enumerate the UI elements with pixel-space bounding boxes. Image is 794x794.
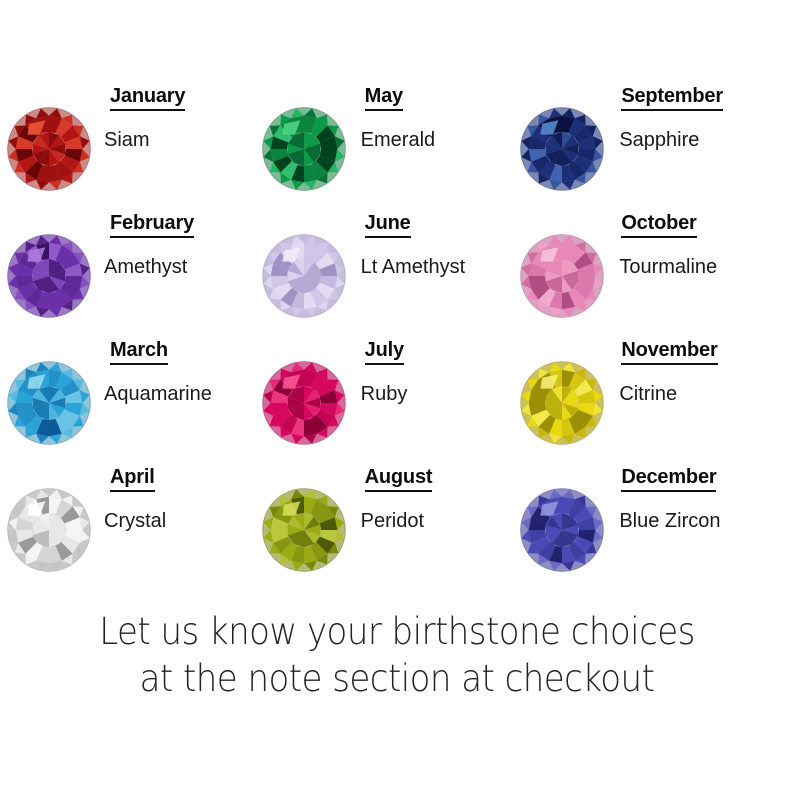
gem-icon: [259, 485, 349, 575]
stone-name: Ruby: [361, 384, 408, 404]
month-label: April: [110, 467, 155, 492]
gem-icon: [4, 231, 94, 321]
stone-name: Sapphire: [619, 130, 699, 150]
gem-icon: [4, 358, 94, 448]
birthstone-cell-november: November Citrine: [529, 326, 794, 453]
gem-icon: [517, 358, 607, 448]
gem-icon: [259, 231, 349, 321]
birthstone-cell-may: May Emerald: [265, 72, 530, 199]
month-label: July: [365, 340, 404, 365]
month-label: June: [365, 213, 411, 238]
stone-name: Blue Zircon: [619, 511, 720, 531]
stone-name: Lt Amethyst: [361, 257, 466, 277]
month-label: December: [621, 467, 716, 492]
stone-name: Crystal: [104, 511, 166, 531]
caption: Let us know your birthstone choices at t…: [32, 608, 762, 703]
month-label: March: [110, 340, 168, 365]
caption-line-1: Let us know your birthstone choices: [32, 608, 762, 655]
stone-name: Aquamarine: [104, 384, 212, 404]
birthstone-cell-december: December Blue Zircon: [529, 453, 794, 580]
gem-icon: [259, 104, 349, 194]
stone-name: Amethyst: [104, 257, 187, 277]
birthstone-chart: January Siam May Emerald September Sapph…: [0, 0, 794, 794]
birthstone-grid: January Siam May Emerald September Sapph…: [0, 72, 794, 580]
birthstone-cell-february: February Amethyst: [0, 199, 265, 326]
birthstone-cell-june: June Lt Amethyst: [265, 199, 530, 326]
stone-name: Siam: [104, 130, 150, 150]
month-label: February: [110, 213, 194, 238]
birthstone-cell-august: August Peridot: [265, 453, 530, 580]
month-label: August: [365, 467, 433, 492]
birthstone-cell-january: January Siam: [0, 72, 265, 199]
stone-name: Peridot: [361, 511, 424, 531]
gem-icon: [4, 485, 94, 575]
gem-icon: [517, 485, 607, 575]
birthstone-cell-september: September Sapphire: [529, 72, 794, 199]
gem-icon: [4, 104, 94, 194]
stone-name: Tourmaline: [619, 257, 717, 277]
month-label: October: [621, 213, 696, 238]
birthstone-cell-july: July Ruby: [265, 326, 530, 453]
gem-icon: [517, 231, 607, 321]
birthstone-cell-october: October Tourmaline: [529, 199, 794, 326]
birthstone-cell-april: April Crystal: [0, 453, 265, 580]
gem-icon: [517, 104, 607, 194]
stone-name: Citrine: [619, 384, 677, 404]
month-label: November: [621, 340, 717, 365]
birthstone-cell-march: March Aquamarine: [0, 326, 265, 453]
month-label: May: [365, 86, 403, 111]
gem-icon: [259, 358, 349, 448]
month-label: January: [110, 86, 185, 111]
month-label: September: [621, 86, 723, 111]
caption-line-2: at the note section at checkout: [32, 655, 762, 702]
stone-name: Emerald: [361, 130, 435, 150]
